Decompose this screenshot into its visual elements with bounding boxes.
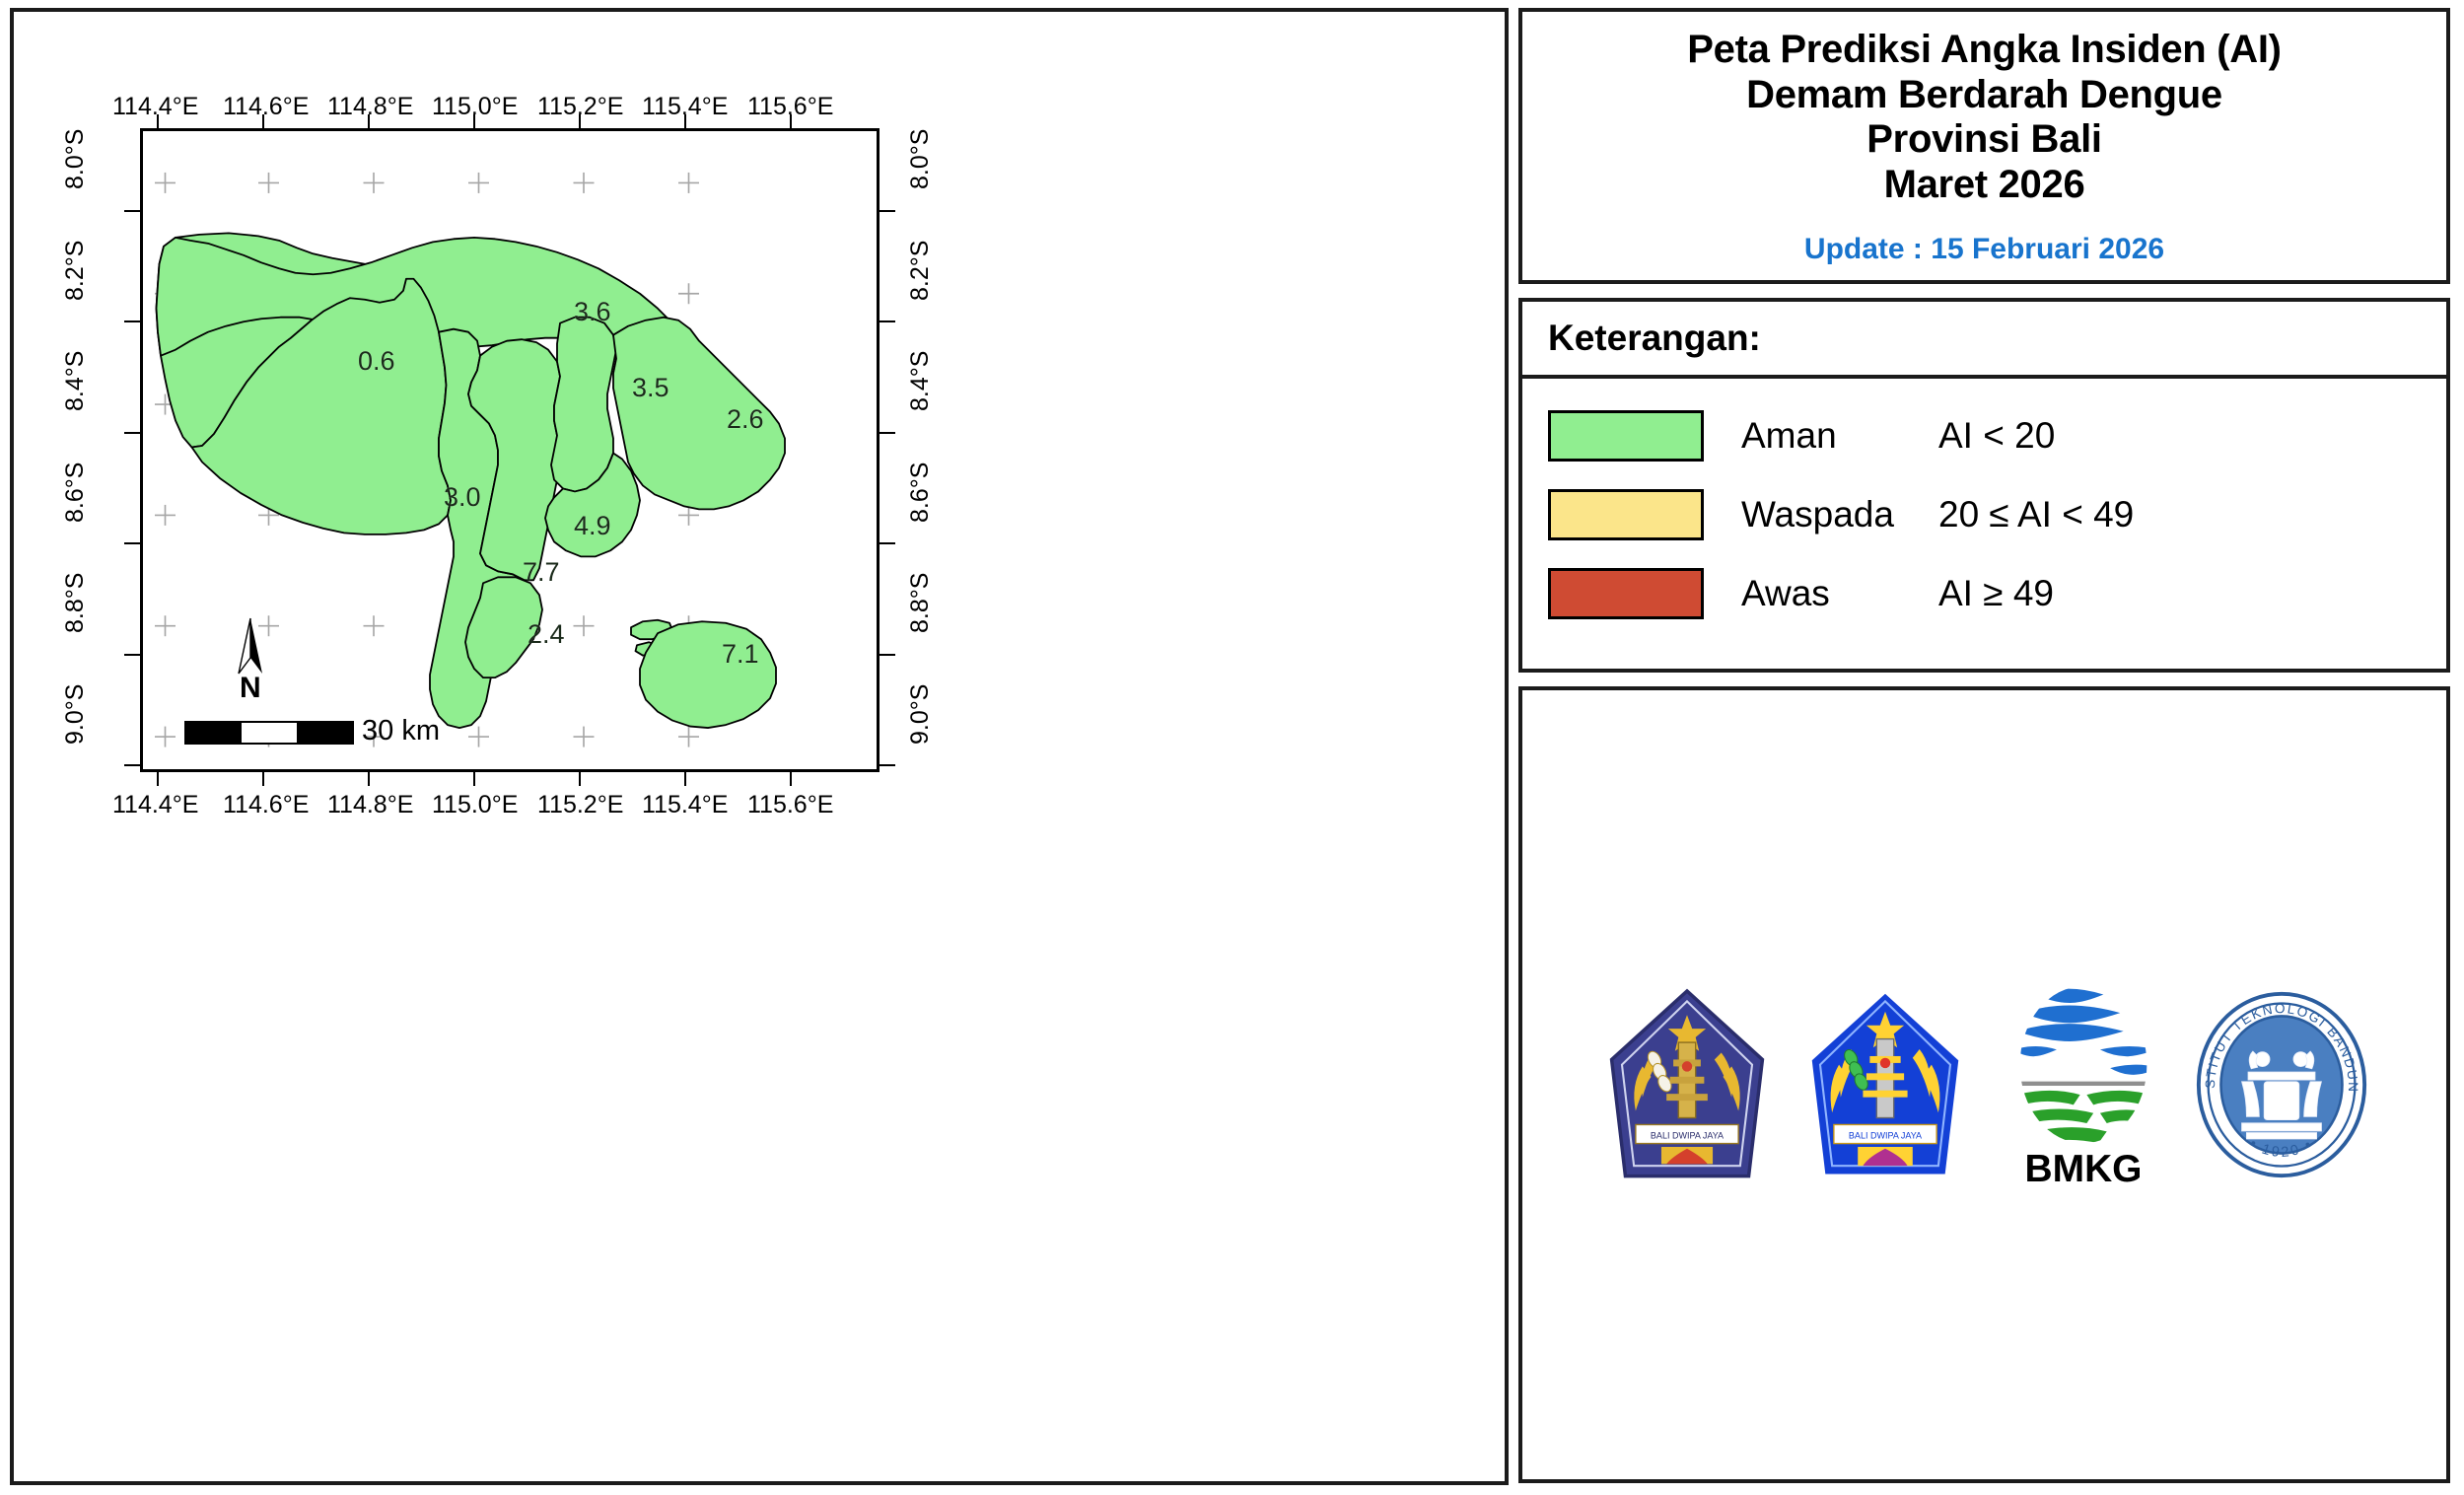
lat-tick-right-1: 8.2°S [906, 241, 935, 301]
logos-panel: BALI DWIPA JAYA [1518, 686, 2450, 1483]
lon-tick-bottom-2: 114.8°E [327, 791, 413, 819]
legend-range-awas: AI ≥ 49 [1938, 573, 2054, 614]
region-value-jembrana: 0.6 [358, 346, 395, 377]
lon-tick-bottom-0: 114.4°E [112, 791, 198, 819]
region-value-badung: 7.7 [523, 557, 560, 588]
region-value-bangli: 3.5 [632, 373, 669, 403]
lon-tick-top-0: 114.4°E [112, 93, 198, 121]
scale-bar-label: 30 km [362, 715, 440, 747]
scale-bar [184, 721, 354, 745]
map-plot-area[interactable]: 0.6 3.6 3.0 7.7 4.9 2.4 3.5 2.6 7.1 [140, 128, 880, 772]
lat-tick-right-5: 9.0°S [906, 684, 935, 745]
legend-item-awas[interactable]: Awas AI ≥ 49 [1522, 566, 2446, 621]
lon-tick-bottom-1: 114.6°E [223, 791, 309, 819]
scalebar-segment-3 [297, 723, 352, 743]
region-nusa-penida [640, 621, 776, 728]
lat-tick-left-2: 8.4°S [61, 351, 90, 411]
north-arrow-label: N [240, 672, 261, 705]
lat-tick-right-0: 8.0°S [906, 129, 935, 189]
map-frame-border: 114.4°E 114.6°E 114.8°E 115.0°E 115.2°E … [10, 8, 1509, 1485]
page-title-line-4: Maret 2026 [1884, 163, 2085, 208]
lat-tick-right-3: 8.6°S [906, 463, 935, 523]
legend-body: Aman AI < 20 Waspada 20 ≤ AI < 49 Awas A… [1522, 379, 2446, 669]
legend-title: Keterangan: [1548, 318, 1761, 359]
update-timestamp: Update : 15 Februari 2026 [1804, 233, 2164, 266]
lon-tick-bottom-6: 115.6°E [747, 791, 833, 819]
legend-label-waspada: Waspada [1741, 494, 1938, 535]
region-value-gianyar: 4.9 [574, 511, 611, 541]
legend-range-aman: AI < 20 [1938, 415, 2055, 457]
lon-tick-top-1: 114.6°E [223, 93, 309, 121]
map-page: 114.4°E 114.6°E 114.8°E 115.0°E 115.2°E … [0, 0, 2464, 1495]
legend-swatch-waspada [1548, 489, 1704, 540]
lon-tick-bottom-5: 115.4°E [642, 791, 728, 819]
legend-range-waspada: 20 ≤ AI < 49 [1938, 494, 2134, 535]
legend-label-awas: Awas [1741, 573, 1938, 614]
lat-tick-right-4: 8.8°S [906, 573, 935, 633]
lon-tick-bottom-4: 115.2°E [537, 791, 623, 819]
scalebar-segment-2 [242, 723, 297, 743]
region-bangli [551, 318, 616, 492]
lat-tick-right-2: 8.4°S [906, 351, 935, 411]
lat-tick-left-4: 8.8°S [61, 573, 90, 633]
lat-tick-left-5: 9.0°S [61, 684, 90, 745]
legend-header: Keterangan: [1522, 302, 2446, 379]
nusa-penida-group [631, 620, 776, 728]
itb-logo: INSTITUT TEKNOLOGI BANDUNG • 1920 • [2191, 979, 2373, 1191]
legend-swatch-awas [1548, 568, 1704, 619]
region-value-tabanan: 3.0 [444, 482, 481, 513]
svg-text:BALI DWIPA JAYA: BALI DWIPA JAYA [1651, 1130, 1724, 1140]
page-title-line-3: Provinsi Bali [1866, 117, 2101, 163]
region-value-klungkung: 7.1 [722, 639, 759, 670]
bmkg-logo: BMKG [1993, 979, 2175, 1191]
legend-item-waspada[interactable]: Waspada 20 ≤ AI < 49 [1522, 487, 2446, 542]
lon-tick-bottom-3: 115.0°E [432, 791, 518, 819]
info-column: Peta Prediksi Angka Insiden (AI) Demam B… [1518, 0, 2464, 1495]
lon-tick-top-2: 114.8°E [327, 93, 413, 121]
page-title-line-1: Peta Prediksi Angka Insiden (AI) [1687, 28, 2281, 73]
lat-tick-left-0: 8.0°S [61, 129, 90, 189]
region-value-karangasem: 2.6 [727, 404, 764, 435]
legend-panel: Keterangan: Aman AI < 20 Waspada 20 ≤ AI… [1518, 298, 2450, 673]
legend-swatch-aman [1548, 410, 1704, 462]
page-title-line-2: Demam Berdarah Dengue [1746, 73, 2222, 118]
lat-tick-left-3: 8.6°S [61, 463, 90, 523]
region-value-denpasar: 2.4 [528, 619, 565, 650]
svg-text:BALI DWIPA JAYA: BALI DWIPA JAYA [1849, 1130, 1922, 1140]
map-panel: 114.4°E 114.6°E 114.8°E 115.0°E 115.2°E … [0, 0, 1518, 1495]
bali-provincial-emblem-2-logo: BALI DWIPA JAYA [1795, 979, 1977, 1191]
bali-provincial-emblem-1-logo: BALI DWIPA JAYA [1596, 979, 1779, 1191]
legend-item-aman[interactable]: Aman AI < 20 [1522, 408, 2446, 463]
scalebar-segment-1 [186, 723, 242, 743]
svg-text:BMKG: BMKG [2025, 1148, 2143, 1188]
lat-tick-left-1: 8.2°S [61, 241, 90, 301]
title-panel: Peta Prediksi Angka Insiden (AI) Demam B… [1518, 8, 2450, 284]
region-value-buleleng: 3.6 [574, 297, 611, 327]
legend-label-aman: Aman [1741, 415, 1938, 457]
